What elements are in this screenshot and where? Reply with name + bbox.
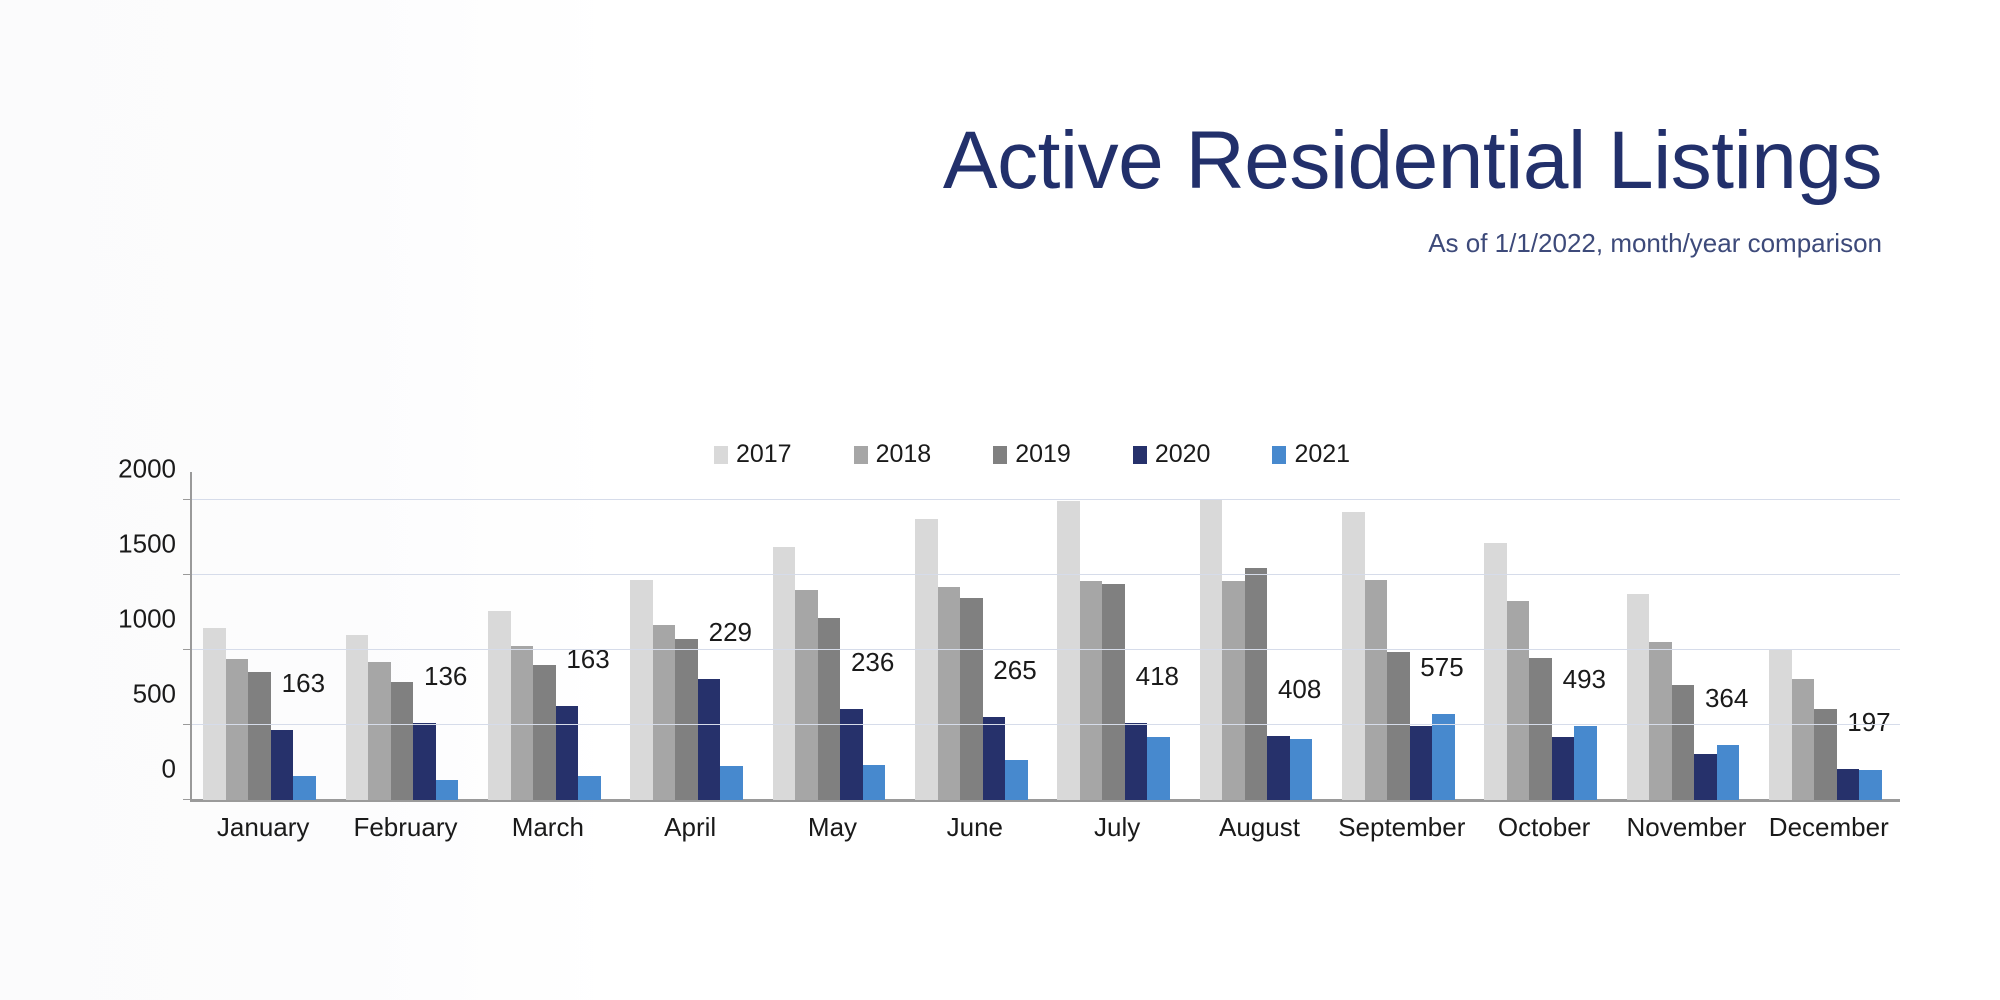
y-axis-cap — [190, 472, 192, 500]
data-label-november: 364 — [1705, 683, 1748, 714]
legend-swatch-2020 — [1133, 446, 1147, 464]
page-subtitle: As of 1/1/2022, month/year comparison — [0, 228, 1940, 259]
x-axis-label-march: March — [477, 812, 619, 843]
y-tick-1500 — [183, 574, 192, 575]
bar-2021-november[interactable] — [1717, 745, 1740, 800]
bars — [1758, 500, 1900, 800]
legend-item-2019[interactable]: 2019 — [993, 442, 1071, 467]
data-label-december: 197 — [1847, 707, 1890, 738]
x-axis-label-january: January — [192, 812, 334, 843]
legend-item-2020[interactable]: 2020 — [1133, 442, 1211, 467]
bar-2018-august[interactable] — [1222, 581, 1245, 800]
bar-2019-march[interactable] — [533, 665, 556, 800]
bars — [1046, 500, 1188, 800]
bar-2020-march[interactable] — [556, 706, 579, 801]
bar-group-august: 408August — [1188, 500, 1330, 800]
gridline-1500 — [192, 574, 1900, 575]
y-tick-2000 — [183, 499, 192, 500]
bars — [619, 500, 761, 800]
bar-group-january: 163January — [192, 500, 334, 800]
bar-group-june: 265June — [904, 500, 1046, 800]
legend-swatch-2017 — [714, 446, 728, 464]
x-axis-label-february: February — [334, 812, 476, 843]
legend-label-2021: 2021 — [1294, 442, 1350, 467]
bar-2018-july[interactable] — [1080, 581, 1103, 800]
bars — [1331, 500, 1473, 800]
bar-2021-august[interactable] — [1290, 739, 1313, 800]
bar-2020-february[interactable] — [413, 723, 436, 800]
bar-group-september: 575September — [1331, 500, 1473, 800]
legend-label-2017: 2017 — [736, 442, 792, 467]
bars — [334, 500, 476, 800]
page-title: Active Residential Listings — [0, 120, 1940, 202]
data-label-june: 265 — [993, 655, 1036, 686]
data-label-may: 236 — [851, 647, 894, 678]
bar-2020-june[interactable] — [983, 717, 1006, 800]
bar-2021-december[interactable] — [1859, 770, 1882, 800]
bar-2019-october[interactable] — [1529, 658, 1552, 800]
bar-2021-october[interactable] — [1574, 726, 1597, 800]
data-label-july: 418 — [1136, 661, 1179, 692]
bar-2020-october[interactable] — [1552, 737, 1575, 800]
bar-2020-april[interactable] — [698, 679, 721, 800]
bar-2018-october[interactable] — [1507, 601, 1530, 800]
legend-swatch-2018 — [854, 446, 868, 464]
bar-2019-february[interactable] — [391, 682, 414, 801]
bar-2020-november[interactable] — [1694, 754, 1717, 800]
bar-group-december: 197December — [1758, 500, 1900, 800]
bar-group-july: 418July — [1046, 500, 1188, 800]
x-axis-label-july: July — [1046, 812, 1188, 843]
x-axis-label-november: November — [1615, 812, 1757, 843]
legend-swatch-2021 — [1272, 446, 1286, 464]
bars — [904, 500, 1046, 800]
data-label-august: 408 — [1278, 674, 1321, 705]
bar-group-march: 163March — [477, 500, 619, 800]
x-axis-label-september: September — [1331, 812, 1473, 843]
bar-2021-january[interactable] — [293, 776, 316, 800]
x-axis-label-april: April — [619, 812, 761, 843]
bar-2017-april[interactable] — [630, 580, 653, 800]
bar-2017-july[interactable] — [1057, 501, 1080, 800]
bar-2020-august[interactable] — [1267, 736, 1290, 800]
bar-2021-june[interactable] — [1005, 760, 1028, 800]
legend-item-2021[interactable]: 2021 — [1272, 442, 1350, 467]
legend-label-2020: 2020 — [1155, 442, 1211, 467]
y-tick-1000 — [183, 649, 192, 650]
y-axis-label-0: 0 — [162, 754, 176, 785]
bar-2018-april[interactable] — [653, 625, 676, 800]
chart-legend: 20172018201920202021 — [152, 442, 1912, 467]
bar-2020-september[interactable] — [1410, 726, 1433, 800]
legend-label-2018: 2018 — [876, 442, 932, 467]
bars — [1615, 500, 1757, 800]
bars — [1473, 500, 1615, 800]
legend-item-2017[interactable]: 2017 — [714, 442, 792, 467]
bar-2017-march[interactable] — [488, 611, 511, 800]
x-axis-label-june: June — [904, 812, 1046, 843]
bar-2018-march[interactable] — [511, 646, 534, 801]
gridline-2000 — [192, 499, 1900, 500]
bar-2018-june[interactable] — [938, 587, 961, 800]
header: Active Residential Listings As of 1/1/20… — [0, 120, 1940, 259]
bar-2019-august[interactable] — [1245, 568, 1268, 801]
bars — [192, 500, 334, 800]
x-axis-label-may: May — [761, 812, 903, 843]
bar-groups: 163January136February163March229April236… — [192, 500, 1900, 800]
legend-item-2018[interactable]: 2018 — [854, 442, 932, 467]
legend-swatch-2019 — [993, 446, 1007, 464]
y-axis-label-500: 500 — [133, 679, 176, 710]
plot-area: 163January136February163March229April236… — [190, 500, 1900, 800]
data-label-september: 575 — [1420, 652, 1463, 683]
y-tick-500 — [183, 724, 192, 725]
bar-2019-may[interactable] — [818, 618, 841, 800]
gridline-1000 — [192, 649, 1900, 650]
bar-2021-march[interactable] — [578, 776, 601, 800]
bar-2019-september[interactable] — [1387, 652, 1410, 801]
bar-group-february: 136February — [334, 500, 476, 800]
bar-2017-june[interactable] — [915, 519, 938, 800]
bar-2020-may[interactable] — [840, 709, 863, 800]
bar-2018-february[interactable] — [368, 662, 391, 800]
data-label-january: 163 — [282, 668, 325, 699]
bar-2017-october[interactable] — [1484, 543, 1507, 800]
bar-chart: 20172018201920202021 163January136Februa… — [152, 430, 1912, 850]
bar-2018-may[interactable] — [795, 590, 818, 800]
bar-2017-may[interactable] — [773, 547, 796, 801]
y-axis-label-2000: 2000 — [118, 454, 176, 485]
bar-2020-july[interactable] — [1125, 723, 1148, 800]
bar-2018-november[interactable] — [1649, 642, 1672, 800]
bar-2017-january[interactable] — [203, 628, 226, 801]
bar-2019-november[interactable] — [1672, 685, 1695, 801]
bars — [1188, 500, 1330, 800]
bar-2017-november[interactable] — [1627, 594, 1650, 800]
bar-group-november: 364November — [1615, 500, 1757, 800]
bar-2018-december[interactable] — [1792, 679, 1815, 801]
bar-2017-february[interactable] — [346, 635, 369, 800]
bar-2021-april[interactable] — [720, 766, 743, 800]
bar-2019-december[interactable] — [1814, 709, 1837, 801]
bar-2019-april[interactable] — [675, 639, 698, 800]
data-label-april: 229 — [709, 617, 752, 648]
gridline-500 — [192, 724, 1900, 725]
bar-2021-may[interactable] — [863, 765, 886, 800]
x-axis-label-august: August — [1188, 812, 1330, 843]
y-axis-label-1000: 1000 — [118, 604, 176, 635]
bar-2019-january[interactable] — [248, 672, 271, 800]
legend-label-2019: 2019 — [1015, 442, 1071, 467]
bar-2020-january[interactable] — [271, 730, 294, 800]
bar-group-april: 229April — [619, 500, 761, 800]
bar-group-october: 493October — [1473, 500, 1615, 800]
bar-2017-september[interactable] — [1342, 512, 1365, 800]
y-tick-0 — [183, 799, 192, 800]
y-axis-label-1500: 1500 — [118, 529, 176, 560]
x-axis-label-december: December — [1758, 812, 1900, 843]
x-axis-label-october: October — [1473, 812, 1615, 843]
bar-2021-july[interactable] — [1147, 737, 1170, 800]
slide: Active Residential Listings As of 1/1/20… — [0, 0, 2000, 1000]
data-label-february: 136 — [424, 661, 467, 692]
bar-2020-december[interactable] — [1837, 769, 1860, 800]
bar-group-may: 236May — [761, 500, 903, 800]
data-label-october: 493 — [1563, 664, 1606, 695]
bar-2021-february[interactable] — [436, 780, 459, 800]
bar-2019-july[interactable] — [1102, 584, 1125, 800]
bar-2021-september[interactable] — [1432, 714, 1455, 800]
bar-2018-september[interactable] — [1365, 580, 1388, 800]
bar-2018-january[interactable] — [226, 659, 249, 800]
bar-2019-june[interactable] — [960, 598, 983, 801]
